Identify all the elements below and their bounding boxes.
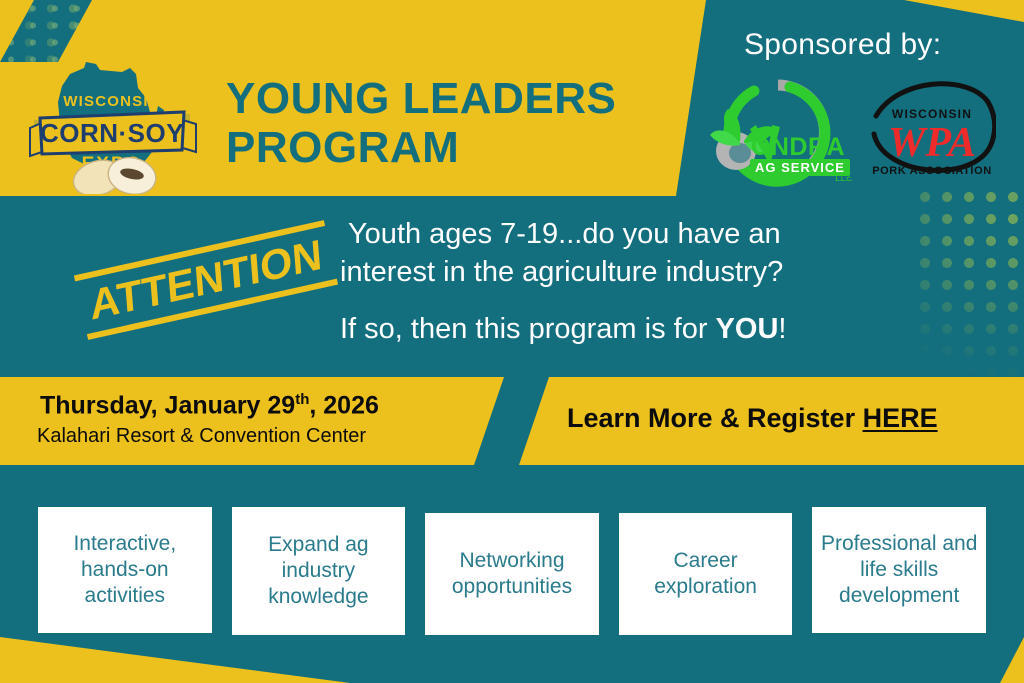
- svg-text:WISCONSIN: WISCONSIN: [63, 93, 160, 110]
- wisconsin-pork-association-logo: WISCONSIN WPA PORK ASSOCIATION: [868, 72, 996, 192]
- svg-text:CORN·SOY: CORN·SOY: [40, 118, 184, 148]
- halftone-dots-right: [914, 186, 1024, 386]
- feature-card: Expand ag industry knowledge: [232, 507, 406, 635]
- cta-emphasis: YOU: [716, 313, 779, 345]
- sponsored-by-label: Sponsored by:: [744, 28, 1004, 62]
- event-venue: Kalahari Resort & Convention Center: [37, 425, 366, 448]
- cta-line: If so, then this program is for YOU!: [340, 311, 920, 349]
- feature-card: Interactive, hands-on activities: [38, 507, 212, 633]
- event-date-main: Thursday, January 29: [40, 391, 295, 419]
- event-date: Thursday, January 29th, 2026: [40, 391, 379, 420]
- event-date-band: Thursday, January 29th, 2026 Kalahari Re…: [0, 377, 504, 465]
- body-copy: Youth ages 7-19...do you have an interes…: [340, 216, 920, 349]
- feature-card-row: Interactive, hands-on activities Expand …: [38, 507, 986, 639]
- register-band[interactable]: Learn More & Register HERE: [519, 377, 1024, 465]
- wisconsin-corn-soy-expo-logo: WISCONSIN CORN·SOY EXPO: [26, 58, 198, 194]
- svg-text:WISCONSIN: WISCONSIN: [892, 107, 972, 121]
- feature-card: Professional and life skills development: [812, 507, 986, 633]
- feature-card: Career exploration: [619, 513, 793, 635]
- cta-prefix: If so, then this program is for: [340, 313, 716, 345]
- bottom-right-yellow-sliver: [994, 637, 1024, 683]
- page-title: YOUNG LEADERS PROGRAM: [226, 74, 696, 173]
- svg-text:WPA: WPA: [888, 120, 976, 166]
- attention-stamp: ATTENTION: [78, 228, 334, 332]
- svg-text:L.L.C.: L.L.C.: [836, 177, 853, 183]
- svg-text:ONDRA: ONDRA: [751, 133, 845, 161]
- register-here-link[interactable]: HERE: [863, 403, 938, 433]
- svg-text:PORK ASSOCIATION: PORK ASSOCIATION: [872, 165, 992, 177]
- vondra-ag-service-logo: ONDRA AG SERVICE L.L.C.: [694, 73, 862, 191]
- title-line-2: PROGRAM: [226, 123, 696, 172]
- register-prefix: Learn More & Register: [567, 403, 863, 433]
- flyer-canvas: WISCONSIN CORN·SOY EXPO YOUNG LEADERS PR…: [0, 0, 1024, 683]
- feature-card: Networking opportunities: [425, 513, 599, 635]
- bottom-left-yellow-wedge: [0, 637, 350, 683]
- event-date-ordinal: th: [295, 391, 309, 408]
- svg-text:AG SERVICE: AG SERVICE: [755, 160, 845, 175]
- register-text: Learn More & Register HERE: [567, 403, 938, 434]
- sponsor-logo-row: ONDRA AG SERVICE L.L.C. WISCONSIN WPA PO…: [694, 72, 1014, 192]
- question-line-1: Youth ages 7-19...do you have an: [340, 216, 920, 254]
- title-line-1: YOUNG LEADERS: [226, 74, 696, 123]
- cta-suffix: !: [778, 313, 786, 345]
- event-date-year: , 2026: [309, 391, 379, 419]
- question-line-2: interest in the agriculture industry?: [340, 254, 920, 292]
